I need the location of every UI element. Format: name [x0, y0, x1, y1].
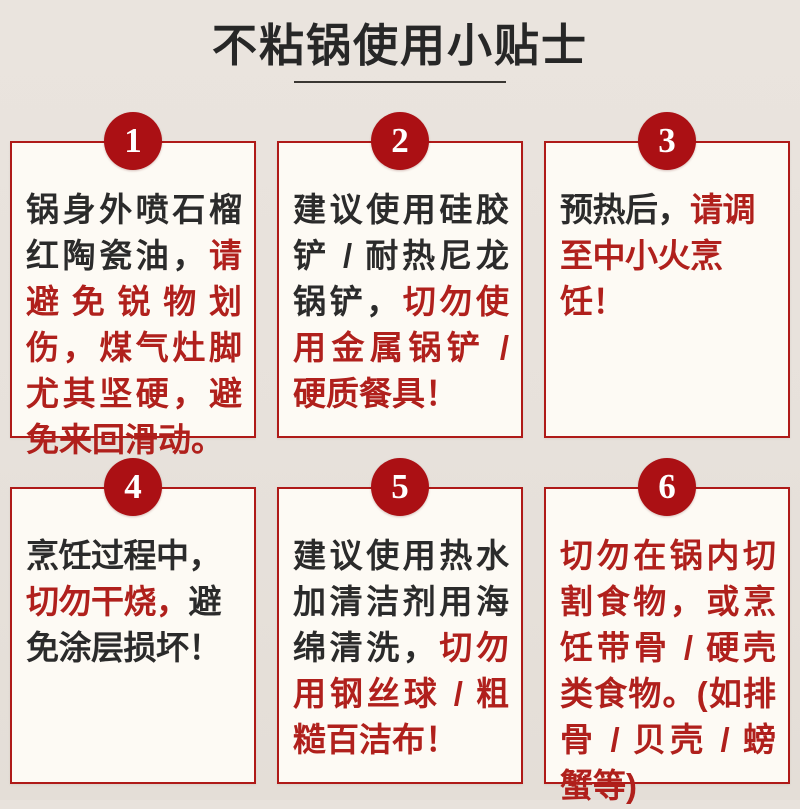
tips-grid: 锅身外喷石榴红陶瓷油，请避免锐物划伤，煤气灶脚尤其坚硬，避免来回滑动。 1 建议… — [10, 112, 790, 784]
tip-text-1: 锅身外喷石榴红陶瓷油，请避免锐物划伤，煤气灶脚尤其坚硬，避免来回滑动。 — [26, 187, 242, 463]
tip-badge-1: 1 — [104, 112, 162, 170]
tip-badge-3: 3 — [638, 112, 696, 170]
tip-cell-4: 烹饪过程中，切勿干烧，避免涂层损坏！ 4 — [10, 458, 256, 784]
tip-cell-5: 建议使用热水加清洁剂用海绵清洗，切勿用钢丝球 / 粗糙百洁布！ 5 — [277, 458, 523, 784]
tip-text-segment: 切勿在锅内切割食物，或烹饪带骨 / 硬壳类食物。(如排骨 / 贝壳 / 螃蟹等) — [560, 537, 776, 804]
tip-text-2: 建议使用硅胶铲 / 耐热尼龙锅铲，切勿使用金属锅铲 / 硬质餐具！ — [293, 187, 509, 417]
tip-text-segment: 切勿干烧， — [26, 583, 189, 620]
tip-card-3: 预热后，请调至中小火烹饪！ — [544, 141, 790, 438]
title-divider — [294, 81, 506, 83]
tips-infographic-page: 不粘锅使用小贴士 锅身外喷石榴红陶瓷油，请避免锐物划伤，煤气灶脚尤其坚硬，避免来… — [0, 0, 800, 800]
tip-badge-5: 5 — [371, 458, 429, 516]
tip-badge-2: 2 — [371, 112, 429, 170]
tip-cell-6: 切勿在锅内切割食物，或烹饪带骨 / 硬壳类食物。(如排骨 / 贝壳 / 螃蟹等)… — [544, 458, 790, 784]
tip-badge-6: 6 — [638, 458, 696, 516]
tip-badge-number-6: 6 — [658, 469, 676, 504]
tip-badge-number-3: 3 — [658, 123, 676, 158]
tip-cell-2: 建议使用硅胶铲 / 耐热尼龙锅铲，切勿使用金属锅铲 / 硬质餐具！ 2 — [277, 112, 523, 438]
tip-card-4: 烹饪过程中，切勿干烧，避免涂层损坏！ — [10, 487, 256, 784]
tip-text-5: 建议使用热水加清洁剂用海绵清洗，切勿用钢丝球 / 粗糙百洁布！ — [293, 533, 509, 763]
tip-badge-number-2: 2 — [391, 123, 409, 158]
tip-text-segment: 预热后， — [560, 191, 690, 228]
tip-cell-1: 锅身外喷石榴红陶瓷油，请避免锐物划伤，煤气灶脚尤其坚硬，避免来回滑动。 1 — [10, 112, 256, 438]
tip-card-2: 建议使用硅胶铲 / 耐热尼龙锅铲，切勿使用金属锅铲 / 硬质餐具！ — [277, 141, 523, 438]
tip-badge-number-4: 4 — [124, 469, 142, 504]
tip-badge-number-5: 5 — [391, 469, 409, 504]
page-title: 不粘锅使用小贴士 — [212, 22, 588, 69]
tip-card-6: 切勿在锅内切割食物，或烹饪带骨 / 硬壳类食物。(如排骨 / 贝壳 / 螃蟹等) — [544, 487, 790, 784]
tip-cell-3: 预热后，请调至中小火烹饪！ 3 — [544, 112, 790, 438]
tip-text-6: 切勿在锅内切割食物，或烹饪带骨 / 硬壳类食物。(如排骨 / 贝壳 / 螃蟹等) — [560, 533, 776, 809]
tip-card-5: 建议使用热水加清洁剂用海绵清洗，切勿用钢丝球 / 粗糙百洁布！ — [277, 487, 523, 784]
tip-card-1: 锅身外喷石榴红陶瓷油，请避免锐物划伤，煤气灶脚尤其坚硬，避免来回滑动。 — [10, 141, 256, 438]
tip-text-4: 烹饪过程中，切勿干烧，避免涂层损坏！ — [26, 533, 242, 671]
tip-badge-4: 4 — [104, 458, 162, 516]
tip-text-segment: 烹饪过程中， — [26, 537, 221, 574]
tip-badge-number-1: 1 — [124, 123, 142, 158]
page-header: 不粘锅使用小贴士 — [0, 0, 800, 108]
tip-text-3: 预热后，请调至中小火烹饪！ — [560, 187, 776, 325]
